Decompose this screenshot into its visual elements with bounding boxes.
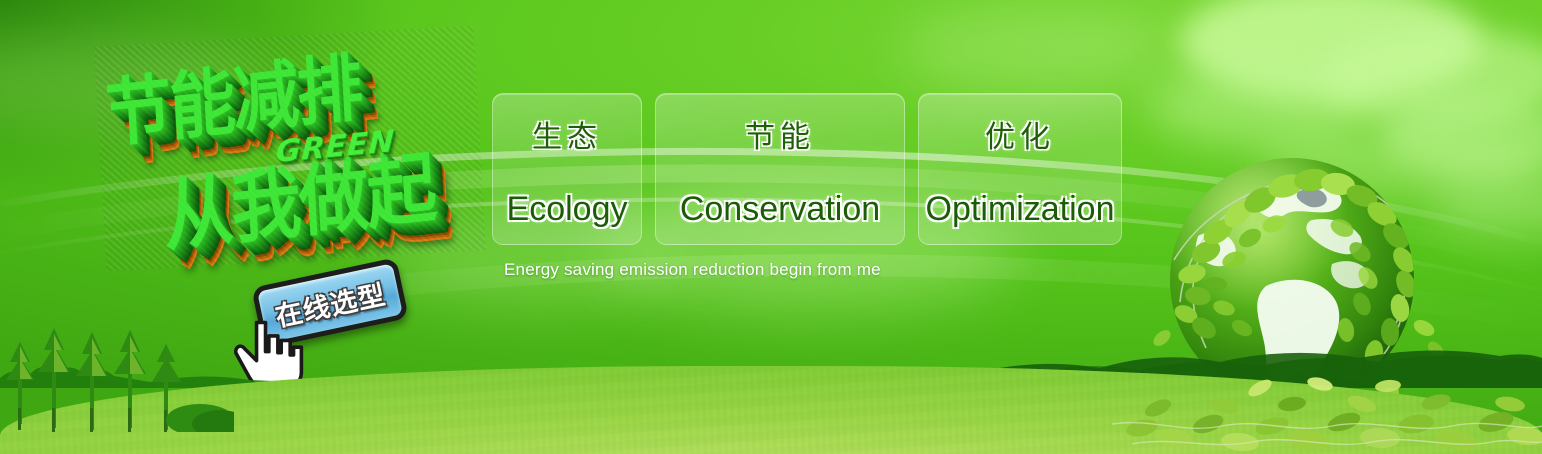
card-title-en: Conservation <box>680 190 880 229</box>
hero-3d-title: 节能减排 从我做起 GREEN <box>94 26 486 272</box>
card-title-en: Ecology <box>507 190 628 229</box>
feature-card-list: 生态 Ecology 节能 Conservation 优化 Optimizati… <box>492 93 1122 245</box>
card-title-cn: 优化 <box>985 112 1055 156</box>
feature-card-optimization[interactable]: 优化 Optimization <box>918 93 1122 245</box>
feature-card-conservation[interactable]: 节能 Conservation <box>655 93 905 245</box>
card-title-en: Optimization <box>926 190 1115 229</box>
card-title-cn: 节能 <box>745 112 815 156</box>
feature-card-ecology[interactable]: 生态 Ecology <box>492 93 642 245</box>
tagline: Energy saving emission reduction begin f… <box>504 260 881 280</box>
fallen-leaves-icon <box>1112 364 1542 454</box>
green-banner: 节能减排 从我做起 GREEN 在线选型 生态 Ecology 节能 Conse… <box>0 0 1542 454</box>
card-title-cn: 生态 <box>532 112 602 156</box>
conifer-trees-icon <box>0 324 234 432</box>
